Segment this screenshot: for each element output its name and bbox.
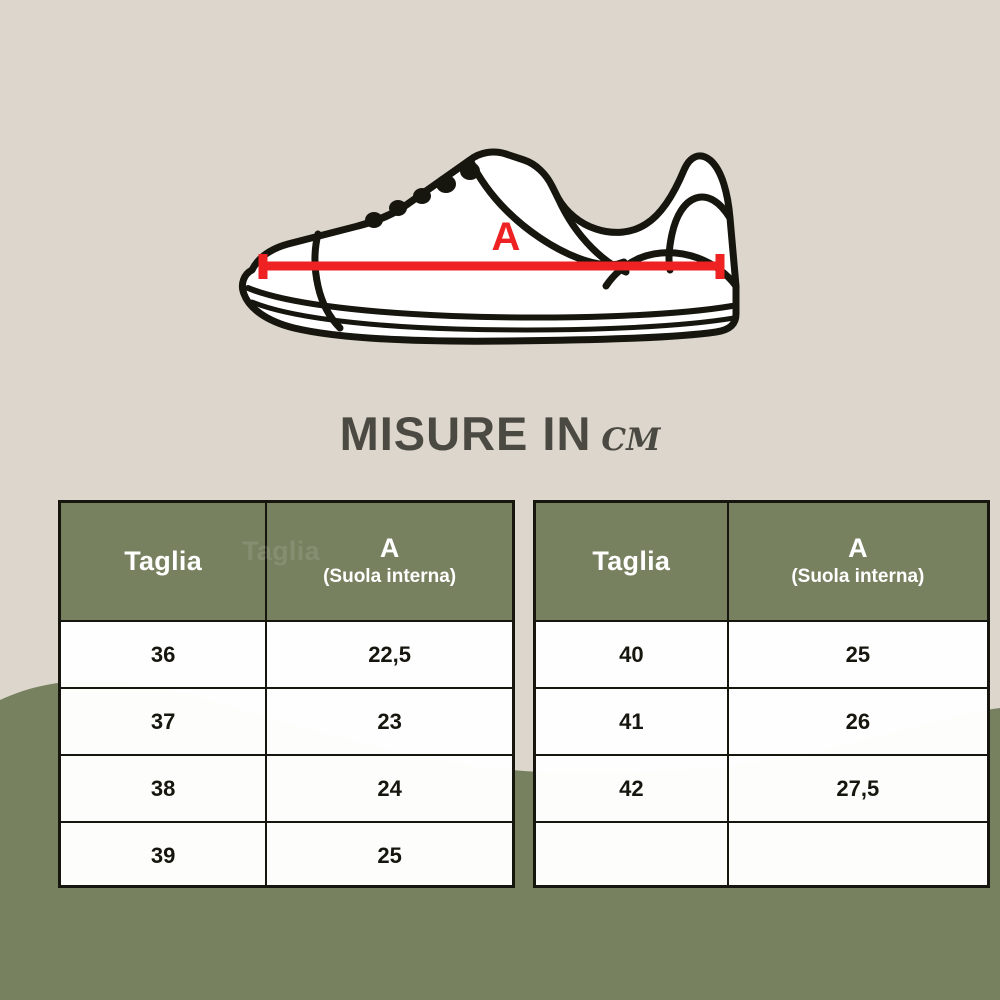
cell-size: 36 (61, 621, 266, 688)
header-label-size: Taglia (124, 546, 202, 576)
header-cell-size: Taglia (536, 503, 728, 621)
cell-a (728, 822, 987, 888)
header-cell-a: A (Suola interna) (266, 503, 512, 621)
measurement-label-a: A (492, 215, 521, 259)
page-title-unit: cm (601, 410, 660, 461)
cell-a: 23 (266, 688, 512, 755)
cell-a: 27,5 (728, 755, 987, 822)
table-body: 36 22,5 37 23 38 24 39 25 (61, 621, 512, 888)
cell-size: 42 (536, 755, 728, 822)
header-label-a: A (735, 534, 981, 564)
size-table-right: Taglia A (Suola interna) 40 25 41 26 (533, 500, 990, 888)
header-cell-size: Taglia (61, 503, 266, 621)
size-table-right-grid: Taglia A (Suola interna) 40 25 41 26 (536, 503, 987, 888)
cell-a: 26 (728, 688, 987, 755)
table-row: 38 24 (61, 755, 512, 822)
table-row: 42 27,5 (536, 755, 987, 822)
header-label-a: A (273, 534, 506, 564)
table-row: 36 22,5 (61, 621, 512, 688)
table-body: 40 25 41 26 42 27,5 (536, 621, 987, 888)
page-title-main: MISURE IN (340, 407, 592, 460)
cell-size: 40 (536, 621, 728, 688)
header-sublabel-a: (Suola interna) (273, 565, 506, 589)
table-row: 40 25 (536, 621, 987, 688)
sneaker-illustration: A (222, 98, 782, 350)
cell-size: 39 (61, 822, 266, 888)
table-header-row: Taglia A (Suola interna) (536, 503, 987, 621)
page-title: MISURE INcm (0, 406, 1000, 461)
table-row (536, 822, 987, 888)
header-label-size: Taglia (592, 546, 670, 576)
header-cell-a: A (Suola interna) (728, 503, 987, 621)
cell-a: 22,5 (266, 621, 512, 688)
size-chart-canvas: A MISURE INcm Taglia A (Suola interna) (0, 0, 1000, 1000)
cell-size: 41 (536, 688, 728, 755)
cell-size: 37 (61, 688, 266, 755)
header-sublabel-a: (Suola interna) (735, 565, 981, 589)
size-table-left-grid: Taglia A (Suola interna) 36 22,5 37 23 (61, 503, 512, 888)
sneaker-svg: A (222, 98, 782, 350)
table-row: 39 25 (61, 822, 512, 888)
table-row: 41 26 (536, 688, 987, 755)
cell-a: 25 (266, 822, 512, 888)
table-row: 37 23 (61, 688, 512, 755)
cell-size (536, 822, 728, 888)
cell-a: 24 (266, 755, 512, 822)
cell-a: 25 (728, 621, 987, 688)
table-header-row: Taglia A (Suola interna) (61, 503, 512, 621)
size-table-left: Taglia A (Suola interna) 36 22,5 37 23 (58, 500, 515, 888)
cell-size: 38 (61, 755, 266, 822)
